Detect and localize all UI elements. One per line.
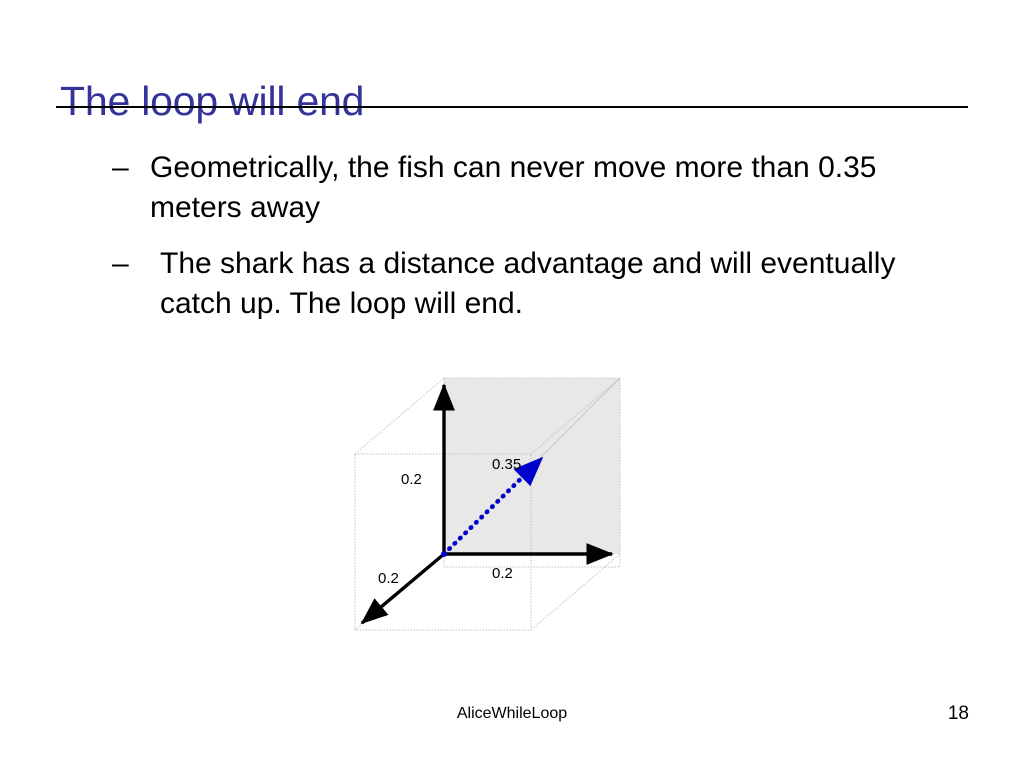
z-axis-arrow [362,554,444,623]
footer-label: AliceWhileLoop [0,705,1024,723]
list-item-text: The shark has a distance advantage and w… [160,244,920,324]
page-title: The loop will end [60,77,960,125]
list-item: – Geometrically, the fish can never move… [112,148,950,228]
label-y-axis: 0.2 [401,471,422,488]
diagram-3d-cube: 0.2 0.2 0.2 0.35 [340,365,640,650]
origin-point [441,551,447,557]
list-item: – The shark has a distance advantage and… [112,244,960,324]
slide-canvas: The loop will end – Geometrically, the f… [0,0,1024,768]
label-diagonal-distance: 0.35 [492,456,521,473]
label-z-axis: 0.2 [378,570,399,587]
label-x-axis: 0.2 [492,565,513,582]
bullet-list: – Geometrically, the fish can never move… [112,148,972,340]
page-number: 18 [948,703,969,725]
title-divider [56,106,968,108]
list-item-text: Geometrically, the fish can never move m… [150,148,950,228]
bullet-dash-icon: – [112,244,129,284]
bullet-dash-icon: – [112,148,129,188]
